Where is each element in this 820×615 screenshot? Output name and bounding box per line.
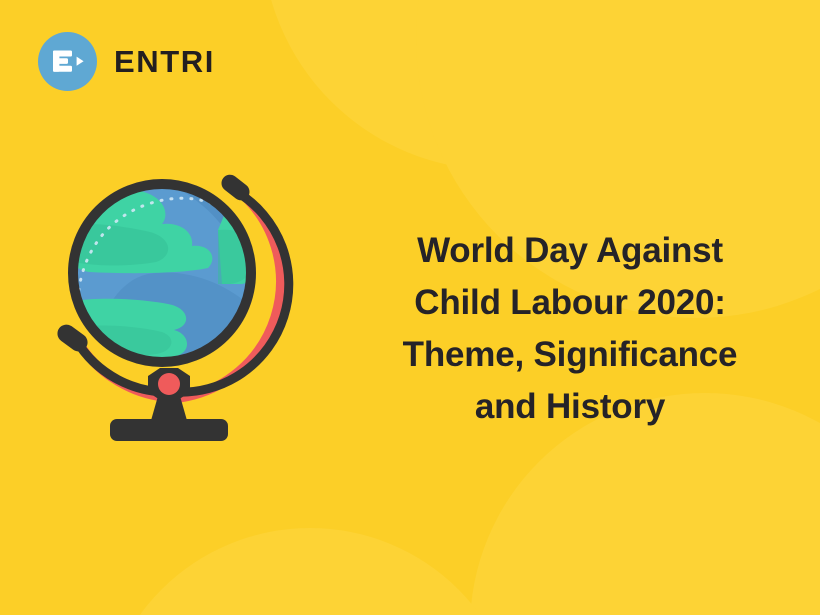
desk-globe-illustration [52,170,302,445]
decorative-circle-top-right [262,0,732,170]
entri-e-arrow-icon [38,32,97,91]
title-line-4: and History [352,381,788,433]
brand-name: ENTRI [114,46,215,77]
brand-logo[interactable]: ENTRI [38,32,215,91]
page-title: World Day Against Child Labour 2020: The… [352,225,788,432]
title-line-2: Child Labour 2020: [352,277,788,329]
decorative-circle-bottom-left [100,528,520,615]
title-line-1: World Day Against [352,225,788,277]
article-banner: ENTRI [0,0,820,615]
pivot-bolt [148,368,190,400]
pedestal-base [110,396,228,441]
title-line-3: Theme, Significance [352,329,788,381]
